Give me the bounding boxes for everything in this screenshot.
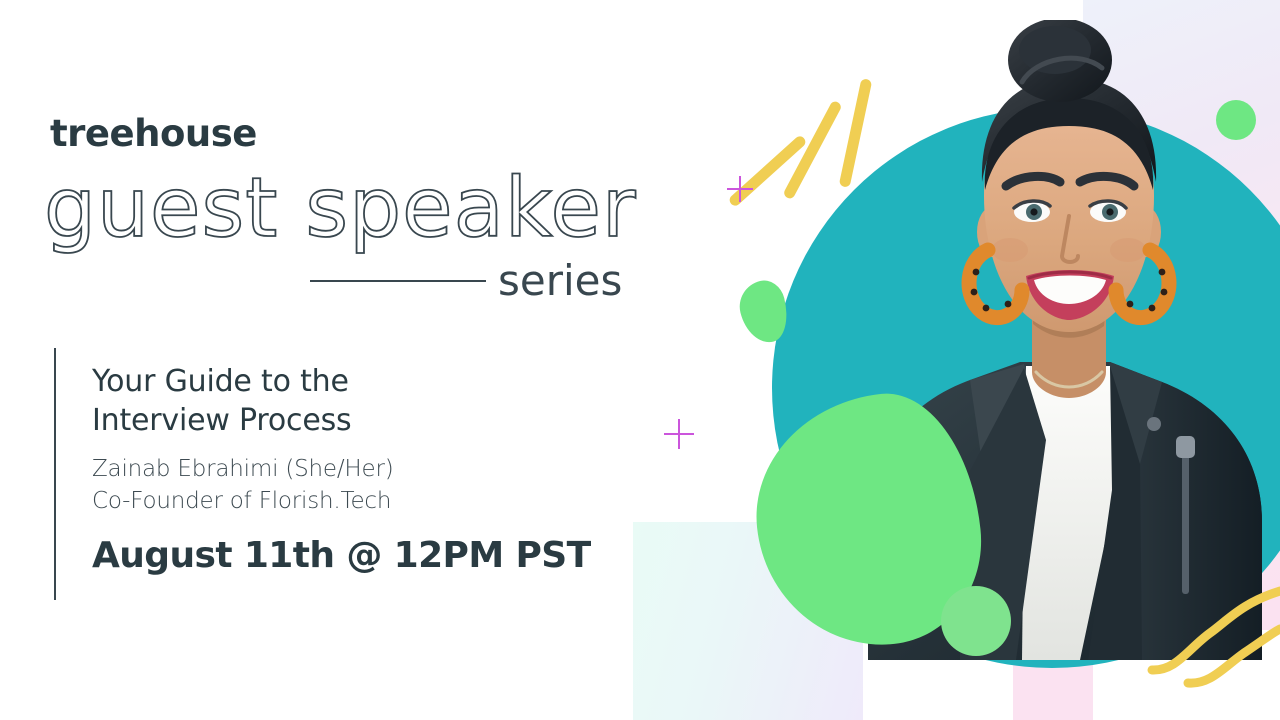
talk-info-block: Your Guide to the Interview Process Zain… (92, 362, 632, 576)
green-dot-icon-bottom (941, 586, 1011, 656)
series-divider-rule (310, 280, 486, 282)
promo-slide: treehouse guest speaker series Your Guid… (0, 0, 1280, 720)
event-datetime: August 11th @ 12PM PST (92, 535, 632, 576)
talk-title: Your Guide to the Interview Process (92, 362, 632, 440)
headline-outline-text: guest speaker (44, 160, 664, 260)
talk-title-line-2: Interview Process (92, 403, 351, 438)
svg-text:guest speaker: guest speaker (44, 161, 637, 256)
series-label: series (498, 256, 622, 305)
plus-mark-icon-lower (664, 419, 694, 449)
brand-wordmark: treehouse (50, 112, 257, 155)
speaker-role: Co-Founder of Florish.Tech (92, 486, 632, 518)
speaker-name: Zainab Ebrahimi (She/Her) (92, 454, 632, 486)
plus-mark-icon-top (727, 176, 753, 202)
info-accent-rule (54, 348, 56, 600)
talk-title-line-1: Your Guide to the (92, 364, 349, 399)
